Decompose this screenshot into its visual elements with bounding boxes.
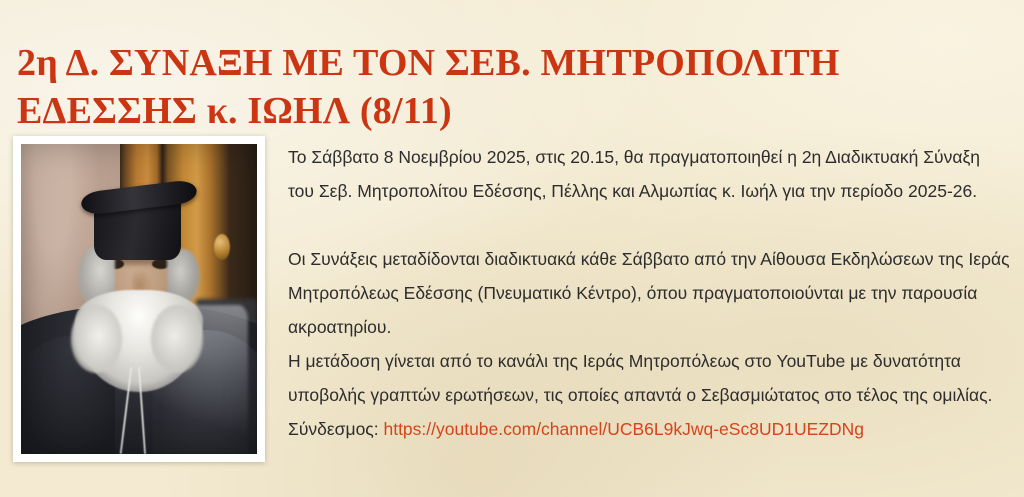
- link-label: Σύνδεσμος:: [288, 419, 379, 439]
- page-title: 2η Δ. ΣΥΝΑΞΗ ΜΕ ΤΟΝ ΣΕΒ. ΜΗΤΡΟΠΟΛΙΤΗ ΕΔΕ…: [17, 39, 1002, 135]
- paragraph-1: Το Σάββατο 8 Νοεμβρίου 2025, στις 20.15,…: [288, 140, 1010, 208]
- paragraph-2: Οι Συνάξεις μεταδίδονται διαδικτυακά κάθ…: [288, 242, 1010, 344]
- bishop-portrait-image: [21, 144, 257, 454]
- article-photo: [13, 136, 265, 462]
- document-page: 2η Δ. ΣΥΝΑΞΗ ΜΕ ΤΟΝ ΣΕΒ. ΜΗΤΡΟΠΟΛΙΤΗ ΕΔΕ…: [0, 0, 1024, 497]
- beard-tuft-right: [151, 305, 203, 373]
- article-body: Το Σάββατο 8 Νοεμβρίου 2025, στις 20.15,…: [288, 140, 1010, 446]
- door-knob: [214, 234, 230, 260]
- youtube-channel-link[interactable]: https://youtube.com/channel/UCB6L9kJwq-e…: [383, 419, 864, 439]
- link-line: Σύνδεσμος: https://youtube.com/channel/U…: [288, 412, 1010, 446]
- paragraph-3: Η μετάδοση γίνεται από το κανάλι της Ιερ…: [288, 344, 1010, 412]
